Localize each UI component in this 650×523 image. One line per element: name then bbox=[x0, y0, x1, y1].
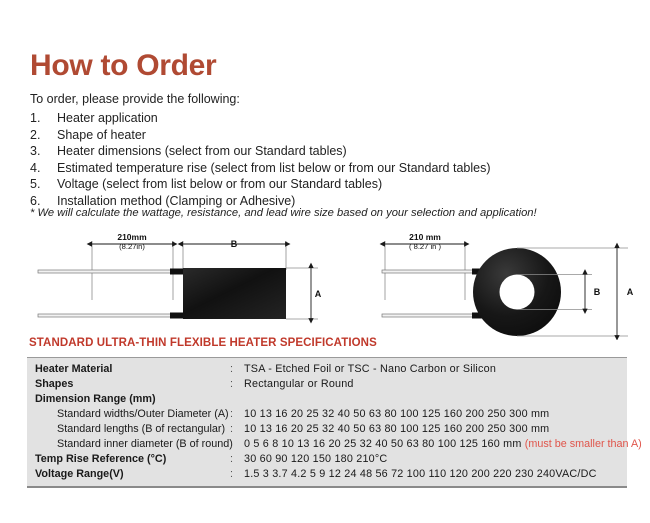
round-heater-diagram: 210 mm ( 8.27 in ) B A bbox=[382, 232, 634, 336]
list-item: 5. Voltage (select from list below or fr… bbox=[30, 176, 630, 193]
table-row: Standard inner diameter (B of round) : 0… bbox=[27, 437, 627, 452]
spec-colon: : bbox=[230, 467, 244, 482]
spec-label: Standard inner diameter (B of round) bbox=[27, 437, 230, 452]
spec-colon: : bbox=[230, 422, 244, 437]
spec-value: 1.5 3 3.7 4.2 5 9 12 24 48 56 72 100 110… bbox=[244, 467, 627, 482]
spec-label: Voltage Range(V) bbox=[27, 467, 230, 482]
table-row: Heater Material : TSA - Etched Foil or T… bbox=[27, 362, 627, 377]
rect-label-a: A bbox=[315, 289, 322, 299]
spec-label: Standard widths/Outer Diameter (A) bbox=[27, 407, 230, 422]
spec-value-text: 1.5 3 3.7 4.2 5 9 12 24 48 56 72 100 110… bbox=[244, 468, 597, 480]
list-item: 2. Shape of heater bbox=[30, 127, 630, 144]
spec-value: 30 60 90 120 150 180 210°C bbox=[244, 452, 627, 467]
list-item-number: 3. bbox=[30, 143, 57, 160]
table-row: Standard lengths (B of rectangular) : 10… bbox=[27, 422, 627, 437]
list-item-number: 5. bbox=[30, 176, 57, 193]
spec-value: 10 13 16 20 25 32 40 50 63 80 100 125 16… bbox=[244, 422, 627, 437]
spec-colon: : bbox=[230, 377, 244, 392]
spec-colon: : bbox=[230, 452, 244, 467]
rect-label-b: B bbox=[231, 239, 238, 249]
list-item-number: 1. bbox=[30, 110, 57, 127]
spec-colon: : bbox=[230, 362, 244, 377]
list-item: 4. Estimated temperature rise (select fr… bbox=[30, 160, 630, 177]
rect-lead-length-mm: 210mm bbox=[117, 232, 147, 242]
spec-label: Temp Rise Reference (°C) bbox=[27, 452, 230, 467]
list-item-number: 4. bbox=[30, 160, 57, 177]
order-steps-list: 1. Heater application 2. Shape of heater… bbox=[30, 110, 630, 209]
rectangular-heater-diagram: 210mm (8.27in) B A bbox=[38, 232, 322, 319]
list-item-label: Voltage (select from list below or from … bbox=[57, 176, 630, 193]
list-item-label: Estimated temperature rise (select from … bbox=[57, 160, 630, 177]
table-row: Standard widths/Outer Diameter (A) : 10 … bbox=[27, 407, 627, 422]
intro-text: To order, please provide the following: bbox=[30, 92, 240, 106]
spec-value-text: TSA - Etched Foil or TSC - Nano Carbon o… bbox=[244, 363, 496, 375]
spec-section-heading: STANDARD ULTRA-THIN FLEXIBLE HEATER SPEC… bbox=[29, 337, 377, 349]
list-item-number: 2. bbox=[30, 127, 57, 144]
round-lead-length-in: ( 8.27 in ) bbox=[409, 242, 442, 251]
footnote-text: * We will calculate the wattage, resista… bbox=[30, 207, 537, 219]
spec-label: Shapes bbox=[27, 377, 230, 392]
spec-value-text: 10 13 16 20 25 32 40 50 63 80 100 125 16… bbox=[244, 423, 549, 435]
rect-lead-length-in: (8.27in) bbox=[119, 242, 145, 251]
table-row: Dimension Range (mm) bbox=[27, 392, 627, 407]
spec-value: 10 13 16 20 25 32 40 50 63 80 100 125 16… bbox=[244, 407, 627, 422]
list-item-label: Shape of heater bbox=[57, 127, 630, 144]
spec-value: 0 5 6 8 10 13 16 20 25 32 40 50 63 80 10… bbox=[244, 437, 642, 452]
heater-diagrams: 210mm (8.27in) B A 210 mm ( 8.27 in ) B … bbox=[0, 228, 650, 338]
spec-colon: : bbox=[230, 407, 244, 422]
list-item: 1. Heater application bbox=[30, 110, 630, 127]
page-title: How to Order bbox=[30, 51, 216, 81]
spec-value-warning: (must be smaller than A) bbox=[525, 438, 642, 450]
spec-value-text: 30 60 90 120 150 180 210°C bbox=[244, 453, 387, 465]
spec-value: Rectangular or Round bbox=[244, 377, 627, 392]
table-row: Temp Rise Reference (°C) : 30 60 90 120 … bbox=[27, 452, 627, 467]
spec-label: Heater Material bbox=[27, 362, 230, 377]
spec-value-text: 0 5 6 8 10 13 16 20 25 32 40 50 63 80 10… bbox=[244, 438, 525, 450]
table-row: Shapes : Rectangular or Round bbox=[27, 377, 627, 392]
list-item: 3. Heater dimensions (select from our St… bbox=[30, 143, 630, 160]
spec-label: Dimension Range (mm) bbox=[27, 392, 230, 407]
spec-table: Heater Material : TSA - Etched Foil or T… bbox=[27, 357, 627, 488]
spec-value-text: Rectangular or Round bbox=[244, 378, 354, 390]
spec-value: TSA - Etched Foil or TSC - Nano Carbon o… bbox=[244, 362, 627, 377]
spec-value-text: 10 13 16 20 25 32 40 50 63 80 100 125 16… bbox=[244, 408, 549, 420]
spec-label: Standard lengths (B of rectangular) bbox=[27, 422, 230, 437]
table-row: Voltage Range(V) : 1.5 3 3.7 4.2 5 9 12 … bbox=[27, 467, 627, 482]
list-item-label: Heater application bbox=[57, 110, 630, 127]
spec-colon: : bbox=[230, 437, 244, 452]
round-label-a: A bbox=[627, 287, 634, 297]
round-label-b: B bbox=[594, 287, 601, 297]
list-item-label: Heater dimensions (select from our Stand… bbox=[57, 143, 630, 160]
round-lead-length-mm: 210 mm bbox=[409, 232, 441, 242]
